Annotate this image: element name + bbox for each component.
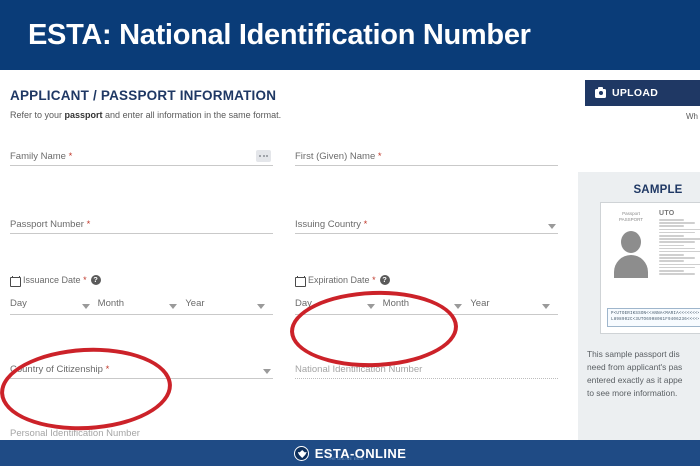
calendar-icon <box>295 276 304 285</box>
chevron-down-icon <box>169 304 177 309</box>
issuance-date-label: Issuance Date * <box>23 275 87 285</box>
page-footer: ESTA-ONLINE THE ONLINE ESTA <box>0 440 700 466</box>
section-heading: APPLICANT / PASSPORT INFORMATION <box>10 88 558 103</box>
field-issuing-country: Issuing Country * <box>295 212 558 234</box>
chevron-down-icon <box>367 304 375 309</box>
spacer-4 <box>10 379 558 421</box>
sample-sidebar: UPLOAD Wh SAMPLE Passport PASSPORT UTO <box>578 70 700 440</box>
chevron-down-icon <box>542 304 550 309</box>
camera-icon <box>595 89 606 98</box>
help-icon[interactable]: ? <box>91 275 101 285</box>
field-passport-number: Passport Number * <box>10 212 273 234</box>
issuance-month-select[interactable]: Month <box>98 293 186 311</box>
field-national-id: National Identification Number <box>295 357 558 379</box>
field-country-of-citizenship: Country of Citizenship * <box>10 357 273 379</box>
personal-id-label: Personal Identification Number <box>10 428 140 439</box>
chevron-down-icon <box>548 224 556 229</box>
issuing-country-label: Issuing Country * <box>295 219 367 230</box>
national-id-input[interactable]: National Identification Number <box>295 357 558 379</box>
page-banner: ESTA: National Identification Number <box>0 0 700 70</box>
avatar-head <box>621 231 641 253</box>
expiration-day-select[interactable]: Day <box>295 293 383 311</box>
expiration-date-label: Expiration Date * <box>308 275 376 285</box>
first-name-label: First (Given) Name * <box>295 151 382 162</box>
mrz-line-1: P<UTOERIKSSON<<ANNA<MARIA<<<<<<<<<<<<<<<… <box>611 311 699 318</box>
footer-tagline: THE ONLINE ESTA <box>328 457 364 461</box>
mrz-line-2: L898902C<3UTO6908061F9406236<<<<<<<<<<<<… <box>611 317 699 324</box>
family-name-input[interactable]: Family Name * <box>10 144 273 166</box>
chevron-down-icon <box>263 369 271 374</box>
help-icon[interactable]: ? <box>380 275 390 285</box>
sample-heading: SAMPLE <box>578 184 700 196</box>
chevron-down-icon <box>454 304 462 309</box>
expiration-month-select[interactable]: Month <box>383 293 471 311</box>
section-subheading: Refer to your passport and enter all inf… <box>10 110 558 120</box>
upload-button[interactable]: UPLOAD <box>585 80 700 106</box>
field-family-name: Family Name * <box>10 144 273 166</box>
passport-data-block: UTO <box>659 210 700 276</box>
sub-bold: passport <box>65 110 103 120</box>
field-issuance-date: Issuance Date * ? Day Month Year <box>10 274 273 315</box>
sub-suffix: and enter all information in the same fo… <box>103 110 282 120</box>
form-row-citizenship: Country of Citizenship * National Identi… <box>10 357 558 379</box>
chevron-down-icon <box>82 304 90 309</box>
issuing-country-select[interactable]: Issuing Country * <box>295 212 558 234</box>
sub-prefix: Refer to your <box>10 110 65 120</box>
chevron-down-icon <box>257 304 265 309</box>
national-id-label: National Identification Number <box>295 364 422 375</box>
field-expiration-date: Expiration Date * ? Day Month Year <box>295 274 558 315</box>
family-name-label: Family Name * <box>10 151 72 162</box>
applicant-form: APPLICANT / PASSPORT INFORMATION Refer t… <box>0 70 570 440</box>
calendar-icon <box>10 276 19 285</box>
passport-detail-lines <box>659 219 700 275</box>
passport-photo-placeholder <box>610 226 652 278</box>
passport-country-code: UTO <box>659 210 700 217</box>
form-row-passport: Passport Number * Issuing Country * <box>10 212 558 234</box>
field-first-name: First (Given) Name * <box>295 144 558 166</box>
page-title: ESTA: National Identification Number <box>0 19 531 52</box>
passport-kicker-line2: PASSPORT <box>607 217 655 223</box>
passport-kicker: Passport PASSPORT <box>607 211 655 223</box>
upload-helper-text: Wh <box>578 112 700 121</box>
screenshot-root: ESTA: National Identification Number APP… <box>0 0 700 466</box>
eagle-seal-icon <box>294 446 309 461</box>
sample-passport-image: Passport PASSPORT UTO <box>600 202 700 334</box>
expiration-date-header: Expiration Date * ? <box>295 274 558 286</box>
spacer-2 <box>10 234 558 274</box>
spacer-3 <box>10 315 558 357</box>
avatar-body <box>614 255 648 278</box>
keyboard-icon[interactable] <box>256 150 271 162</box>
country-of-citizenship-select[interactable]: Country of Citizenship * <box>10 357 273 379</box>
passport-mrz: P<UTOERIKSSON<<ANNA<MARIA<<<<<<<<<<<<<<<… <box>607 308 700 327</box>
issuance-year-select[interactable]: Year <box>185 293 273 311</box>
expiration-year-select[interactable]: Year <box>470 293 558 311</box>
form-row-names: Family Name * First (Given) Name * <box>10 144 558 166</box>
sample-description: This sample passport dis need from appli… <box>587 348 700 400</box>
issuance-day-select[interactable]: Day <box>10 293 98 311</box>
spacer-1 <box>10 166 558 212</box>
country-of-citizenship-label: Country of Citizenship * <box>10 364 109 375</box>
issuance-date-selects: Day Month Year <box>10 293 273 315</box>
sample-passport-panel: SAMPLE Passport PASSPORT UTO <box>578 172 700 440</box>
passport-photo-block: Passport PASSPORT <box>607 211 655 278</box>
first-name-input[interactable]: First (Given) Name * <box>295 144 558 166</box>
passport-number-label: Passport Number * <box>10 219 90 230</box>
issuance-date-header: Issuance Date * ? <box>10 274 273 286</box>
upload-button-label: UPLOAD <box>612 87 658 99</box>
expiration-date-selects: Day Month Year <box>295 293 558 315</box>
form-row-dates: Issuance Date * ? Day Month Year Expirat… <box>10 274 558 315</box>
passport-number-input[interactable]: Passport Number * <box>10 212 273 234</box>
